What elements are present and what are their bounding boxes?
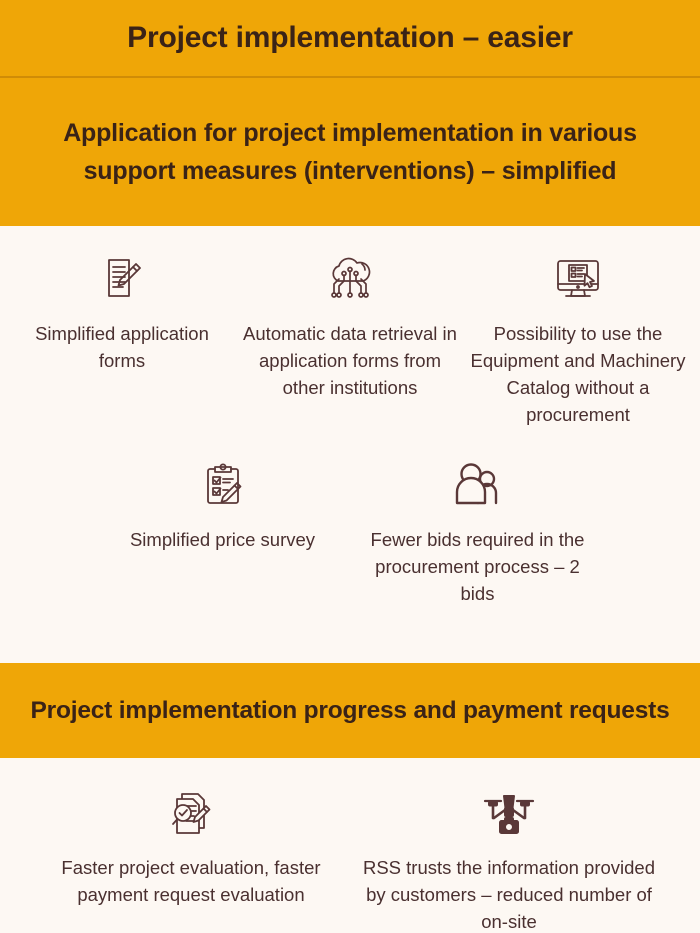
progress-features-row: Faster project evaluation, faster paymen…	[8, 782, 692, 933]
application-features-row-1: Simplified application forms	[8, 248, 692, 428]
feature-label: Possibility to use the Equipment and Mac…	[470, 320, 686, 428]
monitor-catalog-cursor-icon	[550, 248, 606, 310]
page-subtitle: Application for project implementation i…	[28, 114, 672, 190]
feature-faster-evaluation: Faster project evaluation, faster paymen…	[32, 782, 350, 908]
row-spacer	[8, 428, 692, 454]
feature-automatic-data-retrieval: Automatic data retrieval in application …	[236, 248, 464, 401]
page-title: Project implementation – easier	[127, 21, 573, 55]
header-subtitle-band: Application for project implementation i…	[0, 78, 700, 226]
feature-label: Fewer bids required in the procurement p…	[356, 526, 599, 607]
feature-label: Simplified application forms	[14, 320, 230, 374]
feature-label: Simplified price survey	[130, 526, 315, 553]
infographic-page: Project implementation – easier Applicat…	[0, 0, 700, 933]
progress-title-band: Project implementation progress and paym…	[0, 663, 700, 758]
header-title-band: Project implementation – easier	[0, 0, 700, 76]
progress-section-title: Project implementation progress and paym…	[30, 692, 669, 730]
feature-rss-trusts-information: RSS trusts the information provided by c…	[350, 782, 668, 933]
application-features-row-2: Simplified price survey Fewer bids requi…	[8, 454, 692, 607]
clipboard-checklist-pencil-icon	[197, 454, 249, 516]
drone-camera-icon	[480, 782, 538, 844]
feature-label: Faster project evaluation, faster paymen…	[38, 854, 344, 908]
feature-label: Automatic data retrieval in application …	[242, 320, 458, 401]
feature-simplified-application-forms: Simplified application forms	[8, 248, 236, 374]
document-pencil-icon	[96, 248, 148, 310]
feature-simplified-price-survey: Simplified price survey	[95, 454, 350, 553]
feature-fewer-bids: Fewer bids required in the procurement p…	[350, 454, 605, 607]
feature-label: RSS trusts the information provided by c…	[356, 854, 662, 933]
progress-features-section: Faster project evaluation, faster paymen…	[0, 758, 700, 933]
cloud-network-icon	[322, 248, 378, 310]
feature-equipment-machinery-catalog: Possibility to use the Equipment and Mac…	[464, 248, 692, 428]
two-people-icon	[451, 454, 505, 516]
application-features-section: Simplified application forms	[0, 226, 700, 663]
documents-magnifier-check-icon	[164, 782, 218, 844]
